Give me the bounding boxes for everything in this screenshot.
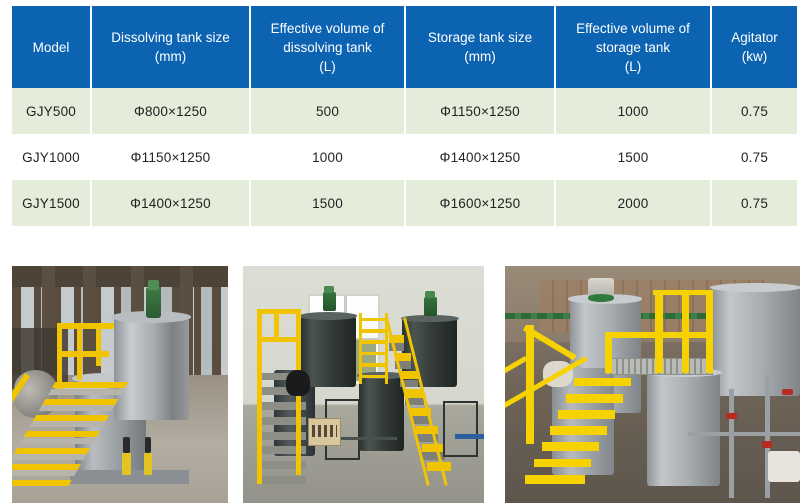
column-header-model-line-1: Model [15,38,87,57]
photo-tank-platform-outdoor-scene [505,266,800,503]
column-header-agitator: Agitator (kw) [712,6,797,88]
cell-model: GJY1000 [12,134,90,180]
column-header-dissolving-tank-volume-line-1: Effective volume of [254,19,401,38]
cell-dissolving-tank-volume: 1000 [251,134,404,180]
column-header-storage-tank-volume-line-3: (L) [559,57,707,76]
cell-dissolving-tank-size: Φ1400×1250 [92,180,249,226]
column-header-dissolving-tank-volume: Effective volume of dissolving tank (L) [251,6,404,88]
photo-dosing-tank-workshop [12,266,228,503]
product-photo-gallery [0,266,800,503]
cell-agitator: 0.75 [712,180,797,226]
cell-model: GJY1500 [12,180,90,226]
column-header-storage-tank-volume: Effective volume of storage tank (L) [556,6,710,88]
cell-model: GJY500 [12,88,90,134]
cell-dissolving-tank-volume: 1500 [251,180,404,226]
table-row: GJY1000 Φ1150×1250 1000 Φ1400×1250 1500 … [12,134,797,180]
cell-agitator: 0.75 [712,134,797,180]
column-header-storage-tank-size-line-1: Storage tank size [409,28,551,47]
cell-storage-tank-volume: 1500 [556,134,710,180]
specification-table: Model Dissolving tank size (mm) Effectiv… [10,6,799,226]
photo-dual-tank-installation [243,266,484,503]
cell-agitator: 0.75 [712,88,797,134]
column-header-storage-tank-volume-line-2: storage tank [559,38,707,57]
column-header-dissolving-tank-size: Dissolving tank size (mm) [92,6,249,88]
column-header-dissolving-tank-size-line-1: Dissolving tank size [95,28,246,47]
column-header-storage-tank-volume-line-1: Effective volume of [559,19,707,38]
photo-tank-platform-outdoor [505,266,800,503]
cell-dissolving-tank-size: Φ800×1250 [92,88,249,134]
table-body: GJY500 Φ800×1250 500 Φ1150×1250 1000 0.7… [12,88,797,226]
cell-storage-tank-volume: 2000 [556,180,710,226]
column-header-model: Model [12,6,90,88]
column-header-storage-tank-size-line-2: (mm) [409,47,551,66]
specification-table-container: Model Dissolving tank size (mm) Effectiv… [10,6,789,226]
table-row: GJY1500 Φ1400×1250 1500 Φ1600×1250 2000 … [12,180,797,226]
column-header-agitator-line-1: Agitator [715,28,794,47]
column-header-agitator-line-2: (kw) [715,47,794,66]
column-header-dissolving-tank-volume-line-3: (L) [254,57,401,76]
cell-storage-tank-size: Φ1150×1250 [406,88,554,134]
cell-dissolving-tank-size: Φ1150×1250 [92,134,249,180]
column-header-dissolving-tank-volume-line-2: dissolving tank [254,38,401,57]
cell-storage-tank-size: Φ1400×1250 [406,134,554,180]
cell-storage-tank-volume: 1000 [556,88,710,134]
column-header-dissolving-tank-size-line-2: (mm) [95,47,246,66]
table-header: Model Dissolving tank size (mm) Effectiv… [12,6,797,88]
table-row: GJY500 Φ800×1250 500 Φ1150×1250 1000 0.7… [12,88,797,134]
column-header-storage-tank-size: Storage tank size (mm) [406,6,554,88]
cell-storage-tank-size: Φ1600×1250 [406,180,554,226]
photo-dual-tank-installation-scene [243,266,484,503]
table-header-row: Model Dissolving tank size (mm) Effectiv… [12,6,797,88]
cell-dissolving-tank-volume: 500 [251,88,404,134]
photo-dosing-tank-workshop-scene [12,266,228,503]
dosing-device-sign [308,418,341,446]
